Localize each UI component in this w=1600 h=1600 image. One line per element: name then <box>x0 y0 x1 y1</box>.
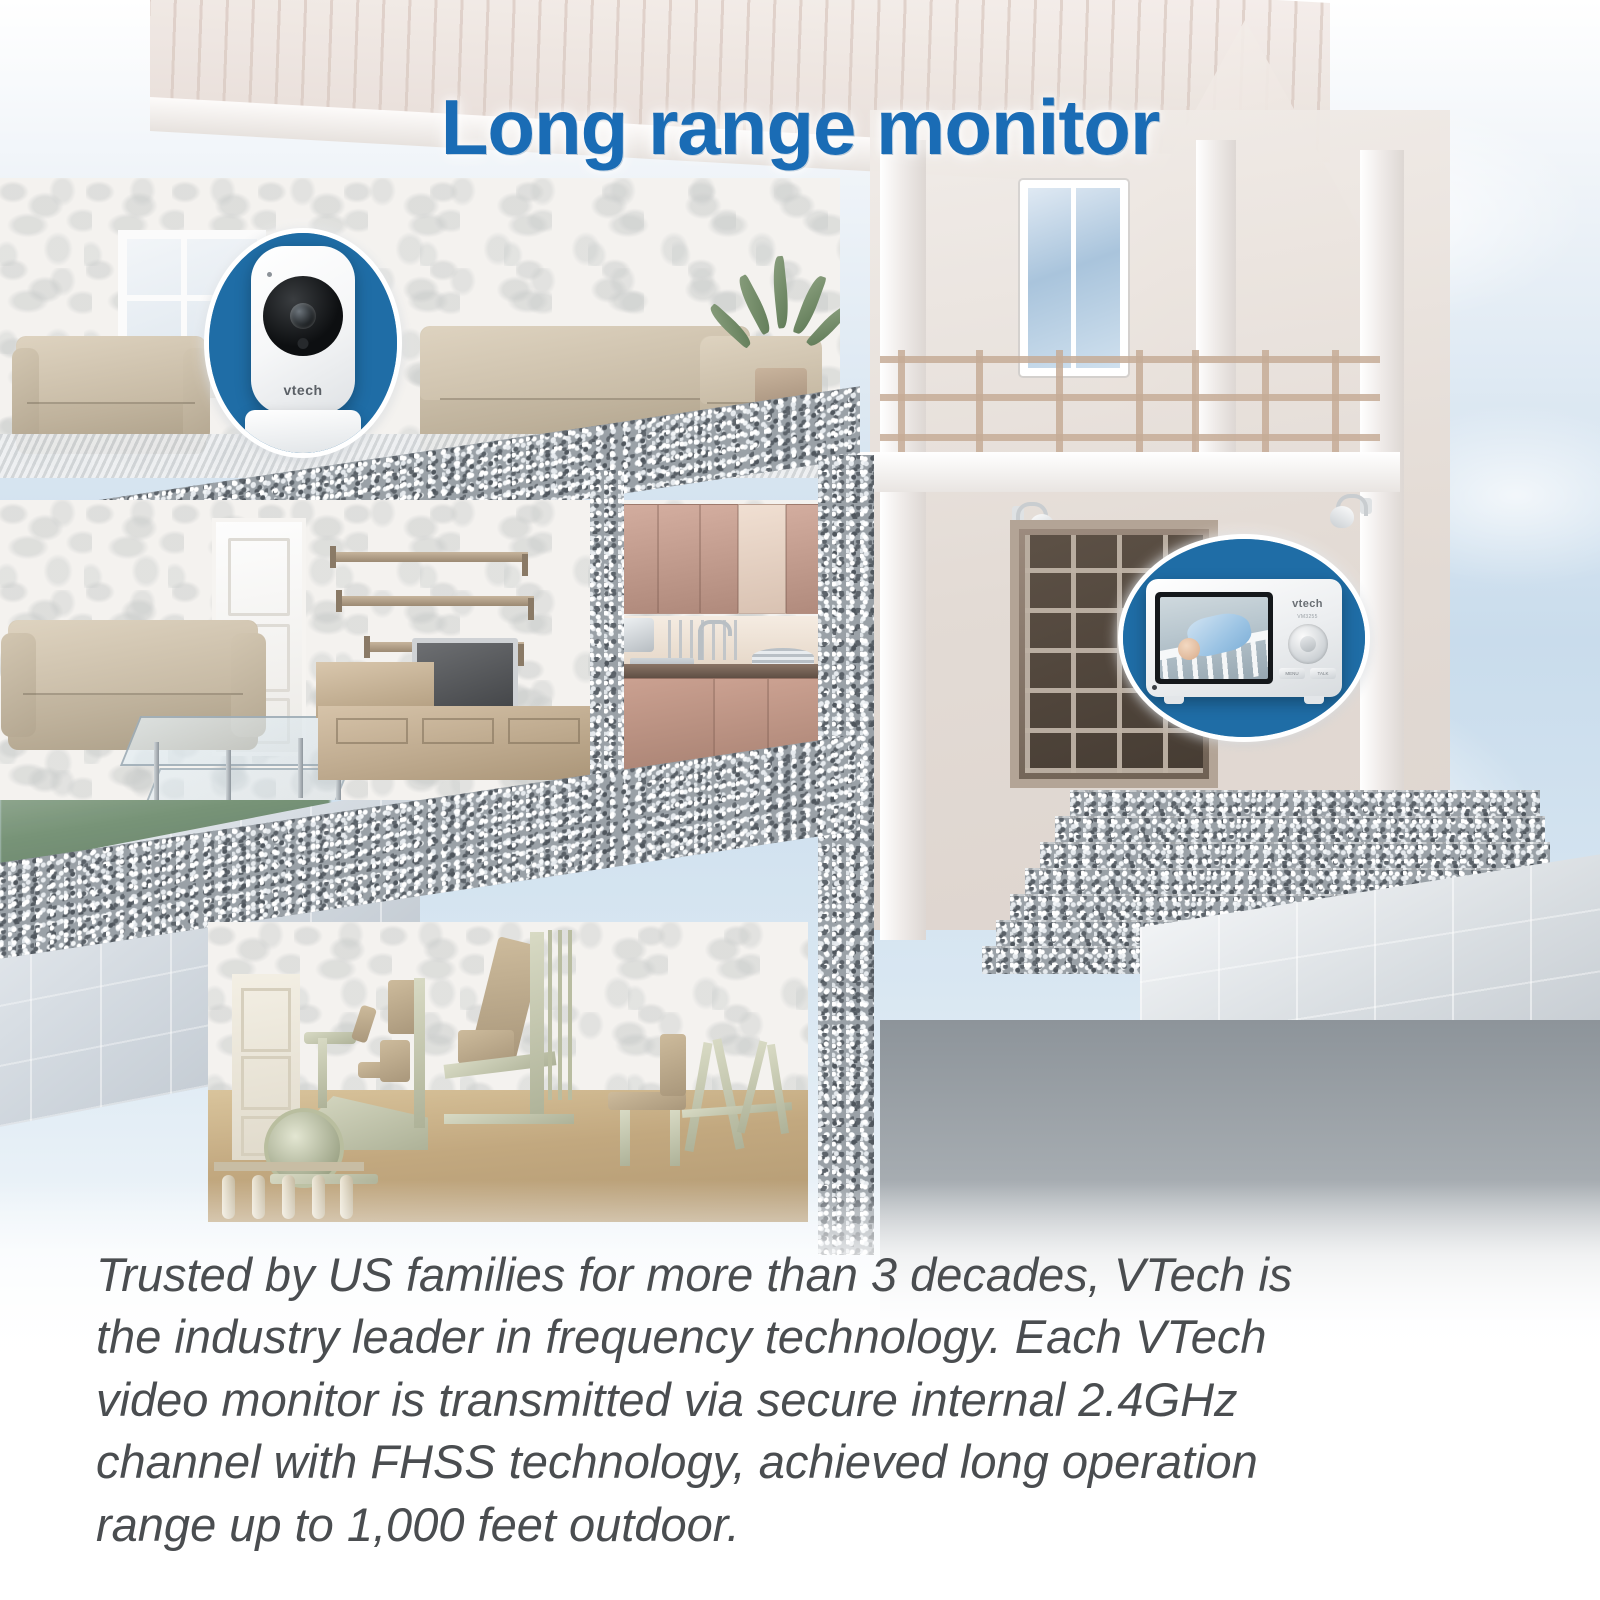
weight-bench-leg <box>620 1110 630 1166</box>
camera-lens-housing <box>263 276 343 356</box>
caption-line: video monitor is transmitted via secure … <box>96 1369 1504 1432</box>
monitor-control-panel: vtech VM3255 MENU TALK <box>1273 579 1342 697</box>
tv-console <box>318 706 590 780</box>
kitchen-pot <box>620 618 654 652</box>
middle-living-room <box>0 500 600 800</box>
monitor-screen <box>1160 597 1268 679</box>
monitor-talk-key[interactable]: TALK <box>1310 668 1336 679</box>
camera-status-led <box>267 272 272 277</box>
kitchen-upper-cabinet <box>738 504 786 614</box>
weight-bench-backrest <box>660 1034 686 1096</box>
gym-arm-pad <box>351 1004 377 1043</box>
page-title: Long range monitor <box>0 88 1600 166</box>
gym-column-frame <box>414 978 425 1128</box>
camera-ir-sensor <box>298 338 309 349</box>
caption-line: the industry leader in frequency technol… <box>96 1306 1504 1369</box>
gym-seat-pad <box>380 1040 410 1082</box>
camera-lens-icon <box>290 303 316 329</box>
exterior-granite-wall <box>818 455 874 1255</box>
basement-gym <box>208 922 808 1222</box>
exterior-window <box>1020 180 1128 376</box>
monitor-model-label: VM3255 <box>1297 614 1317 620</box>
plant-leaf <box>771 256 791 329</box>
interior-granite-wall <box>590 470 624 820</box>
monitor-foot <box>1304 696 1324 704</box>
caption-line: range up to 1,000 feet outdoor. <box>96 1494 1504 1557</box>
monitor-foot <box>1164 696 1184 704</box>
leg-press-base <box>444 1114 574 1124</box>
kitchen-countertop <box>614 664 832 678</box>
kitchen-faucet <box>698 630 703 660</box>
exercise-bike-post <box>318 1038 327 1108</box>
monitor-brand-label: vtech <box>1292 598 1323 610</box>
weight-stack-cables <box>548 930 574 1100</box>
weight-bench-leg <box>670 1110 680 1166</box>
balcony-railing <box>880 350 1380 460</box>
leg-press-mast <box>530 932 544 1120</box>
wall-shelf <box>338 596 534 606</box>
marketing-caption: Trusted by US families for more than 3 d… <box>96 1244 1504 1557</box>
kitchen-upper-cabinet <box>700 504 738 614</box>
baby-camera-device: vtech <box>251 246 355 414</box>
parent-monitor-device: vtech VM3255 MENU TALK <box>1146 579 1342 697</box>
window-mullion <box>1071 188 1076 368</box>
caption-line: Trusted by US families for more than 3 d… <box>96 1244 1504 1307</box>
monitor-microphone-icon <box>1152 685 1157 690</box>
wall-shelf <box>332 552 528 562</box>
kitchen-upper-cabinet <box>658 504 700 614</box>
exercise-bike-handlebar <box>304 1032 356 1044</box>
product-feature-image: vtech vtech VM3255 ME <box>0 0 1600 1600</box>
camera-base-stand <box>245 410 361 456</box>
balcony-deck <box>860 452 1400 492</box>
monitor-menu-key[interactable]: MENU <box>1279 668 1305 679</box>
monitor-dpad-center[interactable] <box>1300 636 1316 652</box>
tv-wall-unit <box>300 510 600 760</box>
camera-brand-label: vtech <box>251 382 355 398</box>
camera-feature-badge[interactable]: vtech <box>204 228 402 458</box>
monitor-bezel <box>1155 592 1273 684</box>
caption-line: channel with FHSS technology, achieved l… <box>96 1431 1504 1494</box>
monitor-feature-badge[interactable]: vtech VM3255 MENU TALK <box>1118 534 1370 742</box>
wall-sconce-right <box>1330 492 1372 532</box>
monitor-key-row: MENU TALK <box>1279 668 1336 679</box>
column-left <box>880 140 926 940</box>
monitor-dpad[interactable] <box>1288 624 1328 664</box>
